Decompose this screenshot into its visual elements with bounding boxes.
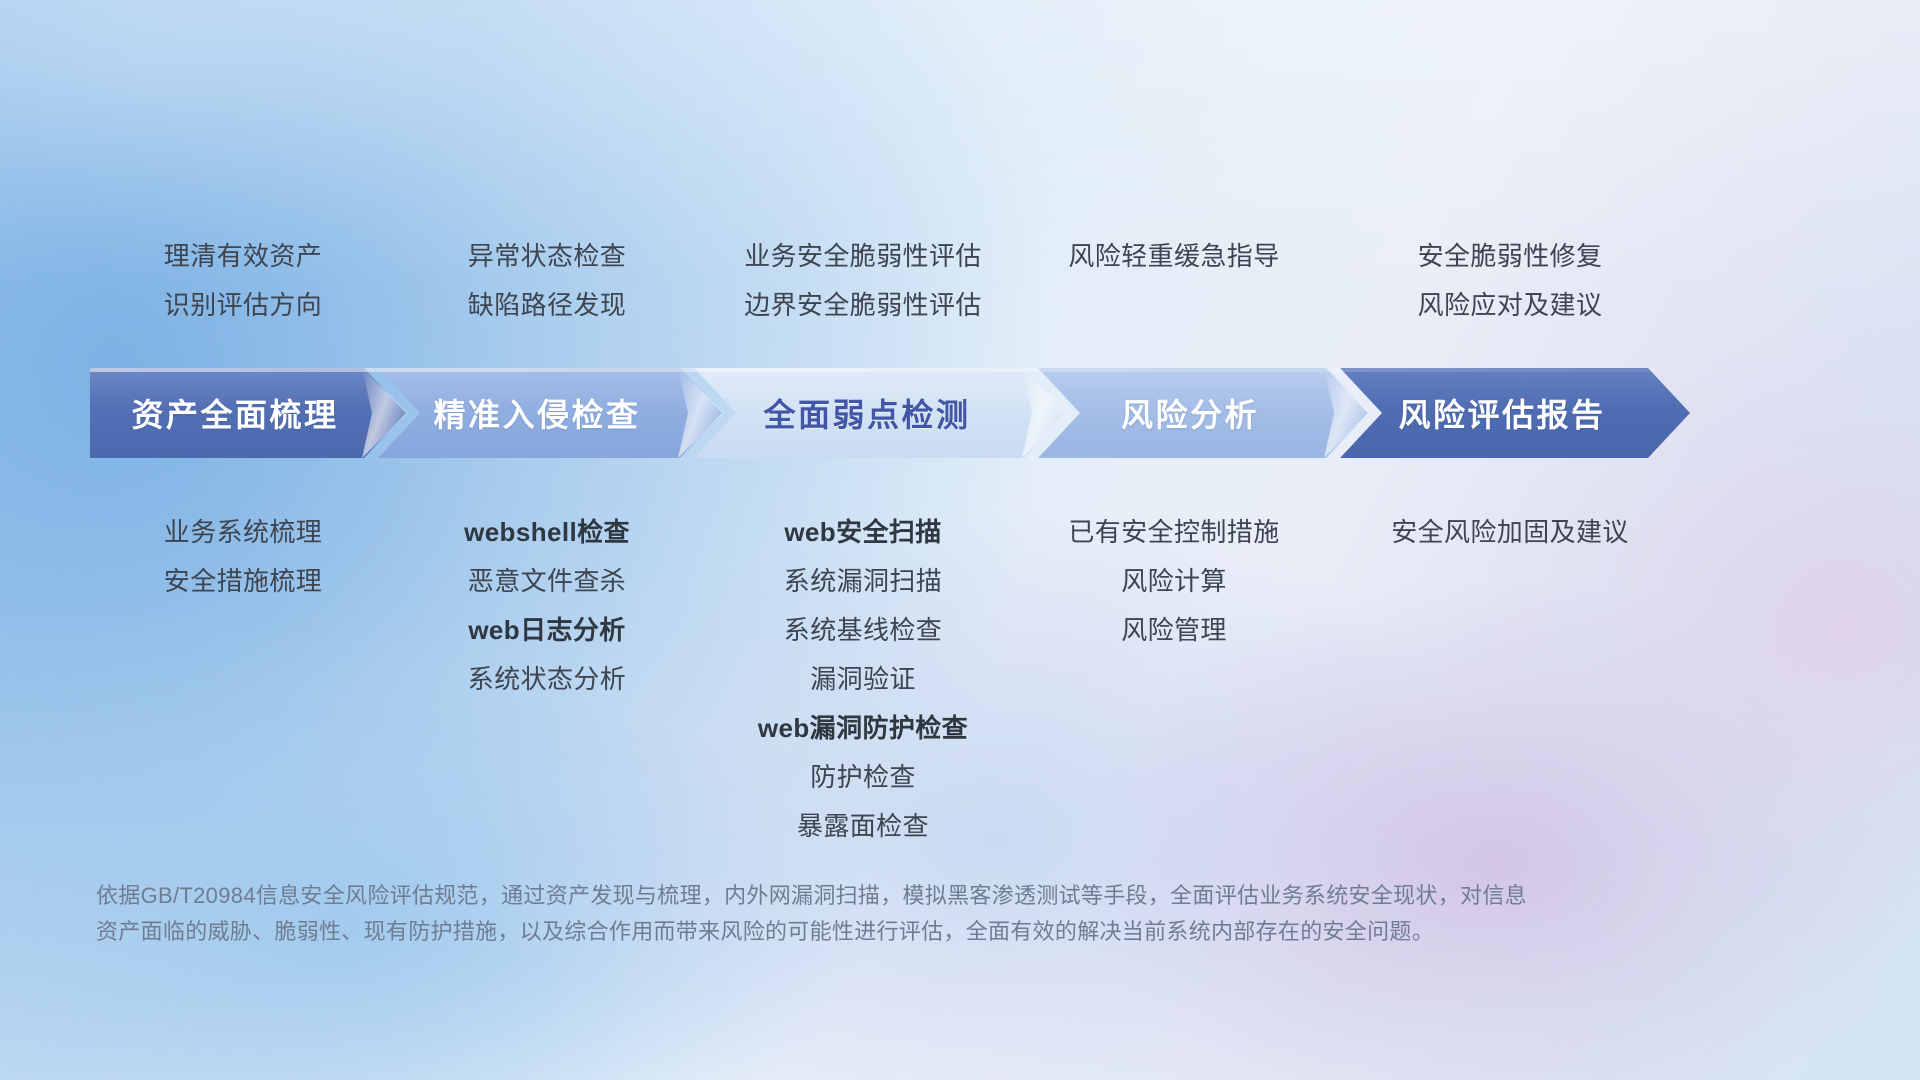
- bottom-item: 安全措施梳理: [90, 557, 396, 606]
- top-item-list: 风险轻重缓急指导: [1028, 232, 1320, 281]
- footer-description: 依据GB/T20984信息安全风险评估规范，通过资产发现与梳理，内外网漏洞扫描，…: [96, 878, 1596, 950]
- bottom-item: webshell检查: [396, 508, 698, 557]
- top-item: 边界安全脆弱性评估: [698, 281, 1028, 330]
- bottom-item: 风险计算: [1028, 557, 1320, 606]
- stage-arrow-asset-inventory[interactable]: 资产全面梳理: [90, 368, 406, 458]
- top-item: 理清有效资产: [90, 232, 396, 281]
- top-item: 风险轻重缓急指导: [1028, 232, 1320, 281]
- bottom-item: web漏洞防护检查: [698, 704, 1028, 753]
- top-item: 缺陷路径发现: [396, 281, 698, 330]
- bottom-item-list: webshell检查 恶意文件查杀 web日志分析 系统状态分析: [396, 508, 698, 704]
- stage-arrow-weakness-detection[interactable]: 全面弱点检测: [694, 368, 1066, 458]
- bottom-item-list: 已有安全控制措施 风险计算 风险管理: [1028, 508, 1320, 655]
- bottom-item: 已有安全控制措施: [1028, 508, 1320, 557]
- bottom-item: 系统漏洞扫描: [698, 557, 1028, 606]
- stage-arrow-label: 精准入侵检查: [378, 390, 722, 436]
- bottom-item: 业务系统梳理: [90, 508, 396, 557]
- infographic-canvas: 理清有效资产 识别评估方向 业务系统梳理 安全措施梳理 异常状态检查 缺陷路径发…: [0, 0, 1920, 1080]
- stage-arrow-label: 资产全面梳理: [90, 390, 406, 436]
- bottom-item: web日志分析: [396, 606, 698, 655]
- top-item-list: 业务安全脆弱性评估 边界安全脆弱性评估: [698, 232, 1028, 330]
- bottom-item: 暴露面检查: [698, 802, 1028, 851]
- footer-line: 资产面临的威胁、脆弱性、现有防护措施，以及综合作用而带来风险的可能性进行评估，全…: [96, 914, 1596, 950]
- bottom-item: 漏洞验证: [698, 655, 1028, 704]
- content-root: 理清有效资产 识别评估方向 业务系统梳理 安全措施梳理 异常状态检查 缺陷路径发…: [0, 0, 1920, 1080]
- bottom-item-list: 业务系统梳理 安全措施梳理: [90, 508, 396, 606]
- stage-arrow-label: 全面弱点检测: [694, 390, 1066, 436]
- footer-line: 依据GB/T20984信息安全风险评估规范，通过资产发现与梳理，内外网漏洞扫描，…: [96, 878, 1596, 914]
- stage-arrow-risk-analysis[interactable]: 风险分析: [1038, 368, 1368, 458]
- stage-arrow-intrusion-check[interactable]: 精准入侵检查: [378, 368, 722, 458]
- bottom-item: 恶意文件查杀: [396, 557, 698, 606]
- stage-arrow-label: 风险分析: [1038, 390, 1368, 436]
- stage-arrow-risk-report[interactable]: 风险评估报告: [1340, 368, 1690, 458]
- process-arrow-band: 资产全面梳理 精准入侵检查 全面弱点检测 风险分析 风险评估报告: [90, 368, 1830, 458]
- stage-arrow-label: 风险评估报告: [1340, 390, 1690, 436]
- top-item-list: 安全脆弱性修复 风险应对及建议: [1320, 232, 1700, 330]
- bottom-item: 系统状态分析: [396, 655, 698, 704]
- top-item-list: 理清有效资产 识别评估方向: [90, 232, 396, 330]
- top-item: 业务安全脆弱性评估: [698, 232, 1028, 281]
- bottom-item: 安全风险加固及建议: [1320, 508, 1700, 557]
- bottom-item: 防护检查: [698, 753, 1028, 802]
- bottom-item-list: web安全扫描 系统漏洞扫描 系统基线检查 漏洞验证 web漏洞防护检查 防护检…: [698, 508, 1028, 851]
- top-item: 识别评估方向: [90, 281, 396, 330]
- bottom-item: 风险管理: [1028, 606, 1320, 655]
- bottom-item-list: 安全风险加固及建议: [1320, 508, 1700, 557]
- top-item: 风险应对及建议: [1320, 281, 1700, 330]
- bottom-item: web安全扫描: [698, 508, 1028, 557]
- bottom-item: 系统基线检查: [698, 606, 1028, 655]
- top-item: 异常状态检查: [396, 232, 698, 281]
- top-item: 安全脆弱性修复: [1320, 232, 1700, 281]
- top-item-list: 异常状态检查 缺陷路径发现: [396, 232, 698, 330]
